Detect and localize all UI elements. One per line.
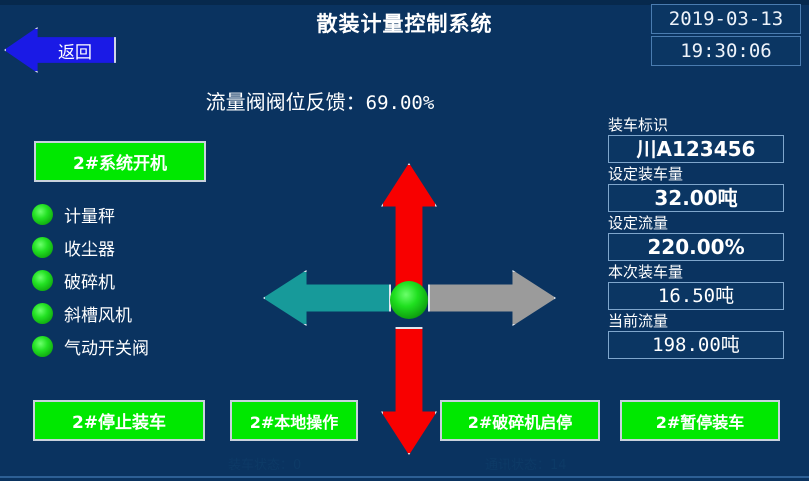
field-label-current-load-weight: 本次装车量 xyxy=(608,263,784,282)
flow-valve-feedback-label: 流量阀阀位反馈： xyxy=(206,90,366,114)
status-led-icon xyxy=(32,237,53,258)
status-item-air-slide-fan: 斜槽风机 xyxy=(32,297,232,330)
local-operation-button[interactable]: 2#本地操作 xyxy=(230,400,358,441)
pause-loading-button[interactable]: 2#暂停装车 xyxy=(620,400,780,441)
center-indicator-icon xyxy=(390,281,428,319)
flow-valve-feedback-value: 69.00% xyxy=(366,92,435,114)
field-value-set-load-weight[interactable]: 32.00吨 xyxy=(608,184,784,212)
status-item-label: 气动开关阀 xyxy=(64,334,149,359)
date-display: 2019-03-13 xyxy=(651,4,801,34)
status-item-weighing-scale: 计量秤 xyxy=(32,198,232,231)
faint-status-left: 装车状态：0 xyxy=(228,454,301,473)
control-system-screen: 散装计量控制系统 返回 2019-03-13 19:30:06 流量阀阀位反馈：… xyxy=(0,0,809,481)
loading-data-panel: 装车标识 川A123456 设定装车量 32.00吨 设定流量 220.00% … xyxy=(608,116,784,361)
flow-valve-feedback: 流量阀阀位反馈：69.00% xyxy=(0,86,640,115)
right-arrow-icon[interactable] xyxy=(428,270,556,326)
status-led-icon xyxy=(32,303,53,324)
field-value-current-flow-rate: 198.00吨 xyxy=(608,331,784,359)
status-item-label: 斜槽风机 xyxy=(64,301,132,326)
crusher-start-stop-button[interactable]: 2#破碎机启停 xyxy=(440,400,600,441)
time-display: 19:30:06 xyxy=(651,36,801,66)
field-label-current-flow-rate: 当前流量 xyxy=(608,312,784,331)
field-value-vehicle-id[interactable]: 川A123456 xyxy=(608,135,784,163)
field-label-vehicle-id: 装车标识 xyxy=(608,116,784,135)
status-led-icon xyxy=(32,336,53,357)
status-item-label: 计量秤 xyxy=(64,202,115,227)
status-item-dust-collector: 收尘器 xyxy=(32,231,232,264)
left-arrow-icon[interactable] xyxy=(263,270,391,326)
field-value-current-load-weight: 16.50吨 xyxy=(608,282,784,310)
bottom-divider xyxy=(0,476,809,478)
down-arrow-icon[interactable] xyxy=(381,327,437,455)
status-item-crusher: 破碎机 xyxy=(32,264,232,297)
back-button-label: 返回 xyxy=(40,38,110,63)
status-led-icon xyxy=(32,270,53,291)
status-item-label: 收尘器 xyxy=(64,235,115,260)
field-label-set-load-weight: 设定装车量 xyxy=(608,165,784,184)
status-indicator-list: 计量秤 收尘器 破碎机 斜槽风机 气动开关阀 xyxy=(32,198,232,363)
faint-status-right: 通讯状态：14 xyxy=(485,454,567,473)
status-item-label: 破碎机 xyxy=(64,268,115,293)
field-label-set-flow-rate: 设定流量 xyxy=(608,214,784,233)
status-item-pneumatic-valve: 气动开关阀 xyxy=(32,330,232,363)
status-led-icon xyxy=(32,204,53,225)
field-value-set-flow-rate[interactable]: 220.00% xyxy=(608,233,784,261)
stop-loading-button[interactable]: 2#停止装车 xyxy=(33,400,205,441)
system-power-on-button[interactable]: 2#系统开机 xyxy=(34,141,206,182)
back-button[interactable]: 返回 xyxy=(4,27,116,73)
up-arrow-icon[interactable] xyxy=(381,163,437,291)
